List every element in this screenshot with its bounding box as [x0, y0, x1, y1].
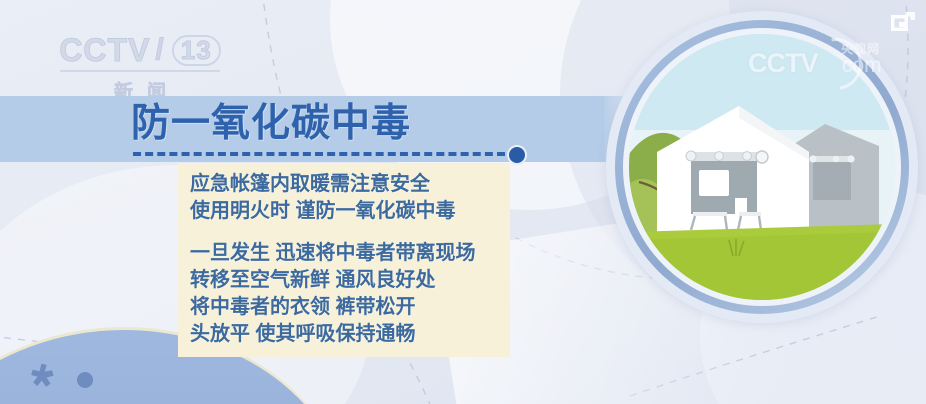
warning-card-line: 应急帐篷内取暖需注意安全 — [190, 171, 496, 198]
warning-card-line: 使用明火时 谨防一氧化碳中毒 — [190, 198, 496, 225]
broadcast-frame: CCTV / 13 新闻 防一氧化碳中毒 应急帐篷内取暖需注意安全 使用明火时 … — [0, 0, 926, 404]
channel-logo-separator: / — [155, 35, 164, 65]
cctv-corner-logo — [890, 11, 916, 33]
channel-logo-rule — [60, 70, 220, 72]
star-icon — [30, 362, 58, 390]
channel-logo-main: CCTV / 13 — [54, 34, 226, 66]
response-card-line: 一旦发生 迅速将中毒者带离现场 — [190, 240, 496, 267]
title-dashed-rule — [133, 152, 505, 156]
channel-logo: CCTV / 13 新闻 — [54, 34, 226, 104]
warning-card: 应急帐篷内取暖需注意安全 使用明火时 谨防一氧化碳中毒 — [178, 163, 510, 234]
illustration-circle — [606, 11, 918, 323]
response-card-line: 将中毒者的衣领 裤带松开 — [190, 294, 496, 321]
decorative-dot — [77, 372, 93, 388]
page-title: 防一氧化碳中毒 — [131, 104, 411, 143]
channel-logo-text: CCTV — [59, 34, 150, 66]
emergency-tents-illustration — [629, 34, 895, 300]
response-card-line: 头放平 使其呼吸保持通畅 — [190, 321, 496, 348]
title-end-dot — [507, 145, 527, 165]
response-card: 一旦发生 迅速将中毒者带离现场 转移至空气新鲜 通风良好处 将中毒者的衣领 裤带… — [178, 232, 510, 357]
response-card-line: 转移至空气新鲜 通风良好处 — [190, 267, 496, 294]
channel-number: 13 — [172, 35, 221, 66]
